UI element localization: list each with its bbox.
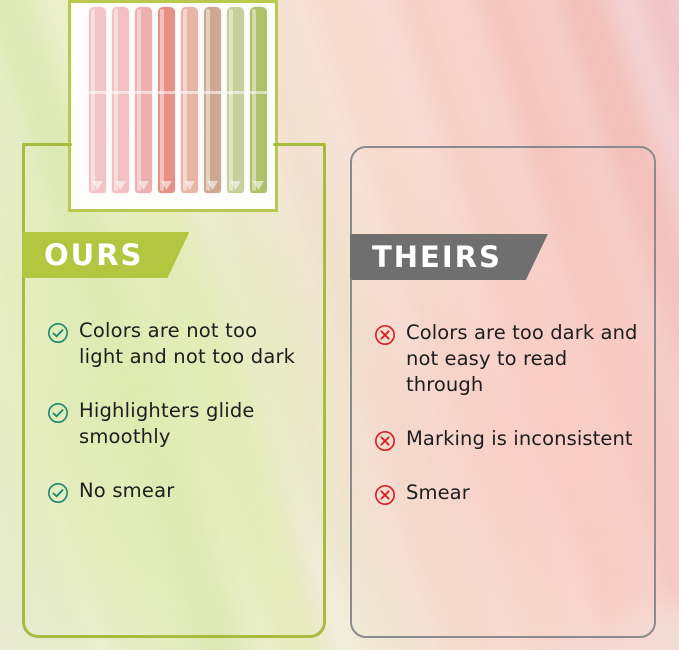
- panel-theirs: THEIRS Colors are too dark and not easy …: [350, 146, 656, 638]
- bullet-text: Colors are too dark and not easy to read…: [406, 320, 638, 398]
- pen-brand-label: My Pen: [241, 124, 277, 139]
- bullet-item: Colors are too dark and not easy to read…: [374, 320, 638, 398]
- comparison-infographic: My PenMy PenMy PenMy PenMy PenMy PenMy P…: [0, 0, 679, 650]
- panel-theirs-bullet-list: Colors are too dark and not easy to read…: [374, 320, 638, 534]
- panel-ours-tab-label: OURS: [44, 238, 143, 272]
- panel-ours: OURS Colors are not too light and not to…: [22, 146, 326, 638]
- bullet-text: Highlighters glide smoothly: [79, 398, 307, 450]
- bullet-item: No smear: [47, 478, 307, 504]
- bullet-text: Marking is inconsistent: [406, 426, 633, 452]
- pen-band: [112, 91, 129, 94]
- pen-band: [135, 91, 152, 94]
- pen-band: [181, 91, 198, 94]
- cross-circle-icon: [374, 324, 396, 346]
- pen-band: [89, 91, 106, 94]
- bullet-text: Colors are not too light and not too dar…: [79, 318, 307, 370]
- check-circle-icon: [47, 322, 69, 344]
- pen-band: [204, 91, 221, 94]
- bullet-item: Highlighters glide smoothly: [47, 398, 307, 450]
- panel-ours-bullet-list: Colors are not too light and not too dar…: [47, 318, 307, 532]
- bullet-item: Smear: [374, 480, 638, 506]
- panel-theirs-tab-label: THEIRS: [372, 240, 502, 274]
- bullet-item: Marking is inconsistent: [374, 426, 638, 452]
- bullet-text: No smear: [79, 478, 174, 504]
- panel-theirs-tab: THEIRS: [350, 234, 548, 280]
- bullet-text: Smear: [406, 480, 470, 506]
- cross-circle-icon: [374, 430, 396, 452]
- check-circle-icon: [47, 402, 69, 424]
- check-circle-icon: [47, 482, 69, 504]
- pen-band: [158, 91, 175, 94]
- panel-ours-tab: OURS: [22, 232, 189, 278]
- bullet-item: Colors are not too light and not too dar…: [47, 318, 307, 370]
- pen-band: [227, 91, 244, 94]
- cross-circle-icon: [374, 484, 396, 506]
- pen-band: [250, 91, 267, 94]
